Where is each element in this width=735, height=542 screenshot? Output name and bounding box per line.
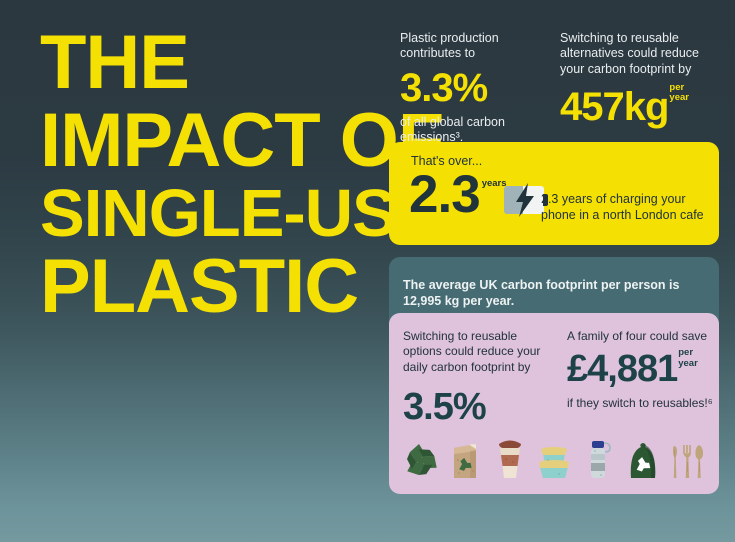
title-line-1: THE: [40, 26, 380, 100]
title-line-3: SINGLE-USE: [40, 181, 380, 246]
lightning-bolt-icon: [515, 183, 535, 217]
family-savings-lead: A family of four could save: [567, 329, 717, 344]
years-of-charging-card: That's over... 2.3 years 2.3 years of ch…: [389, 142, 719, 245]
eco-icon-row: [401, 430, 707, 482]
stat-switching-savings: Switching to reusable alternatives could…: [560, 31, 725, 127]
stat-switching-lead: Switching to reusable alternatives could…: [560, 31, 725, 77]
reusable-coffee-cup-icon: [490, 432, 530, 482]
title-line-4: PLASTIC: [40, 250, 380, 324]
family-savings-tail: if they switch to reusables!⁶: [567, 396, 717, 410]
reusable-daily-value: 3.5%: [403, 388, 553, 426]
years-figure-row: 2.3 years: [409, 172, 548, 218]
title-line-2: IMPACT OF: [40, 104, 380, 178]
water-bottle-icon: [578, 432, 618, 482]
page-title: THE IMPACT OF SINGLE-USE PLASTIC: [40, 26, 380, 328]
reusable-daily-stat: Switching to reusable options could redu…: [403, 329, 553, 426]
bamboo-cutlery-icon: [667, 432, 707, 482]
stat-plastic-tail: of all global carbon emissions³.: [400, 115, 545, 146]
stat-switching-unit: peryear: [669, 83, 689, 104]
stat-switching-value: 457kg: [560, 87, 668, 127]
recycling-bin-bag-icon: [623, 432, 663, 482]
stat-plastic-value: 3.3%: [400, 68, 545, 108]
family-savings-unit: peryear: [678, 348, 698, 369]
average-footprint-text: The average UK carbon footprint per pers…: [403, 277, 719, 309]
food-containers-icon: [534, 432, 574, 482]
years-number: 2.3: [409, 172, 480, 218]
reusable-savings-card: Switching to reusable options could redu…: [389, 313, 719, 494]
paper-bag-icon: [445, 432, 485, 482]
recycle-symbol-icon: [401, 432, 441, 482]
reusable-daily-lead: Switching to reusable options could redu…: [403, 329, 553, 375]
infographic-canvas: THE IMPACT OF SINGLE-USE PLASTIC Plastic…: [0, 0, 735, 542]
years-card-caption: 2.3 years of charging your phone in a no…: [541, 192, 719, 223]
family-savings-value: £4,881: [567, 350, 677, 388]
stat-switching-unit-line2: year: [669, 92, 689, 103]
family-savings-unit-line2: year: [678, 358, 698, 369]
family-savings-stat: A family of four could save £4,881peryea…: [567, 329, 717, 410]
stat-plastic-production: Plastic production contributes to 3.3% o…: [400, 31, 545, 145]
stat-plastic-lead: Plastic production contributes to: [400, 31, 545, 62]
